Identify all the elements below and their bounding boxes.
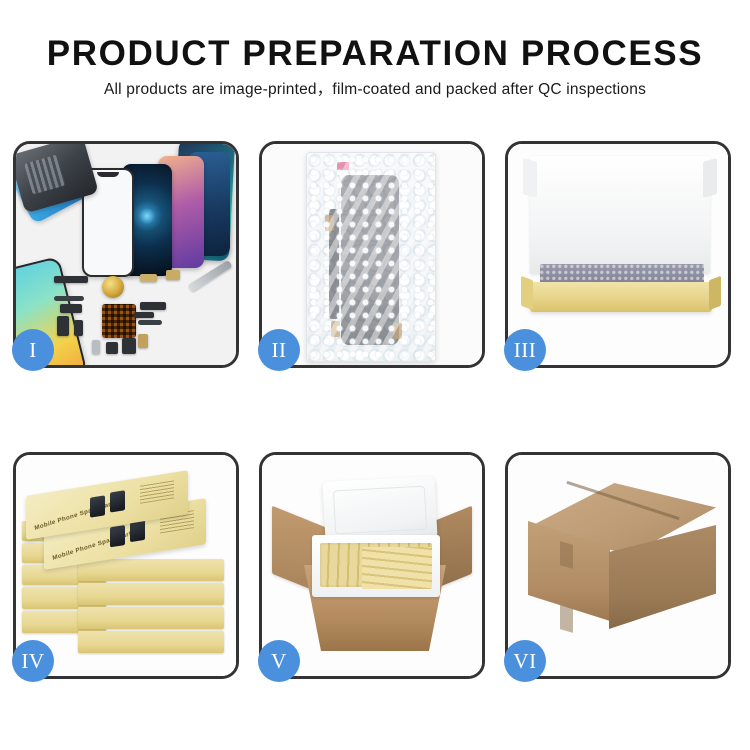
step-badge-3: III <box>504 329 546 371</box>
phones-and-parts-illustration <box>16 144 236 365</box>
bubble-wrapped-screen-illustration <box>262 144 482 365</box>
box-thumbnail-icon <box>130 520 145 542</box>
sealed-carton-illustration <box>508 455 728 676</box>
box-thumbnail-icon <box>90 495 105 517</box>
step-5-image <box>262 455 482 676</box>
process-step-panel-2: II <box>259 141 485 368</box>
step-2-image <box>262 144 482 365</box>
page-header: PRODUCT PREPARATION PROCESS All products… <box>0 34 750 100</box>
step-3-image <box>508 144 728 365</box>
carton-loading-illustration <box>262 455 482 676</box>
plastic-sheen <box>307 153 435 361</box>
gold-coil-part-icon <box>102 276 124 298</box>
part-chip-icon <box>140 302 166 310</box>
part-chip-icon <box>74 320 83 336</box>
part-chip-icon <box>60 304 82 313</box>
retail-box <box>78 559 224 581</box>
part-chip-icon <box>134 312 154 318</box>
process-step-panel-6: VI <box>505 452 731 679</box>
kraft-box-tray-icon <box>530 282 712 312</box>
retail-box <box>78 631 224 653</box>
step-badge-4: IV <box>12 640 54 682</box>
process-step-grid: I II <box>13 141 737 679</box>
grid-chip-part-icon <box>102 304 136 338</box>
carton-tape-mark <box>560 541 573 569</box>
step-6-image <box>508 455 728 676</box>
retail-box <box>78 583 224 605</box>
step-1-image <box>16 144 236 365</box>
bubble-wrap-bag-icon <box>306 152 436 362</box>
white-box-lid-icon <box>530 156 710 274</box>
process-step-panel-5: V <box>259 452 485 679</box>
step-badge-6: VI <box>504 640 546 682</box>
step-4-image: Mobile Phone Spare Parts Mobile Phone Sp… <box>16 455 236 676</box>
part-chip-icon <box>166 270 180 280</box>
foam-lined-box-illustration <box>508 144 728 365</box>
part-chip-icon <box>54 276 88 283</box>
part-chip-icon <box>140 274 157 282</box>
box-thumbnail-icon <box>110 525 125 547</box>
step-badge-5: V <box>258 640 300 682</box>
step-badge-1: I <box>12 329 54 371</box>
process-step-panel-1: I <box>13 141 239 368</box>
flex-cable-icon <box>138 320 162 325</box>
product-preparation-page: PRODUCT PREPARATION PROCESS All products… <box>0 0 750 750</box>
box-thumbnail-icon <box>110 490 125 512</box>
page-subtitle: All products are image-printed，film-coat… <box>0 80 750 100</box>
page-title: PRODUCT PREPARATION PROCESS <box>0 34 750 74</box>
stacked-retail-boxes-illustration: Mobile Phone Spare Parts Mobile Phone Sp… <box>16 455 236 676</box>
flex-cable-icon <box>54 296 84 301</box>
part-chip-icon <box>122 338 136 354</box>
retail-box <box>78 607 224 629</box>
part-chip-icon <box>106 342 118 354</box>
process-step-panel-4: Mobile Phone Spare Parts Mobile Phone Sp… <box>13 452 239 679</box>
process-step-panel-3: III <box>505 141 731 368</box>
part-chip-icon <box>138 334 148 348</box>
box-spec-lines <box>140 480 174 503</box>
foam-lid-icon <box>322 476 437 544</box>
box-label-text: Mobile Phone Spare Parts <box>34 499 118 532</box>
part-chip-icon <box>57 316 69 336</box>
inner-retail-boxes-icon <box>362 547 432 589</box>
carton-tape-mark <box>560 605 573 633</box>
part-chip-icon <box>92 340 100 354</box>
step-badge-2: II <box>258 329 300 371</box>
